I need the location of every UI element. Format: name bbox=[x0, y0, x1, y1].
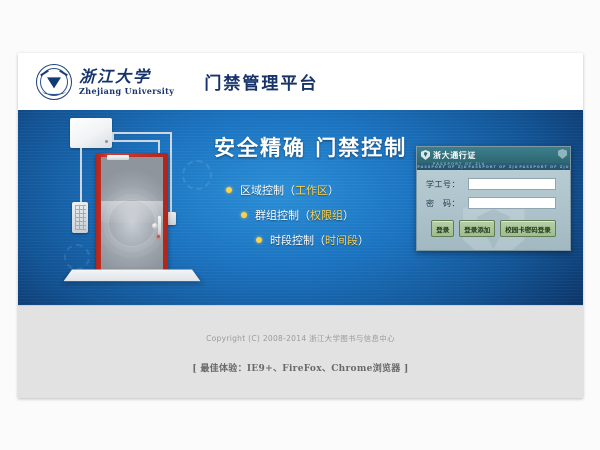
bullet-dot-icon bbox=[256, 237, 262, 243]
shield-icon bbox=[558, 149, 567, 159]
feature-highlight: 权限组 bbox=[310, 207, 343, 223]
wire bbox=[112, 132, 172, 134]
seal-arc bbox=[42, 87, 66, 95]
login-button[interactable]: 登录 bbox=[431, 220, 454, 237]
door-panel bbox=[101, 157, 163, 275]
bullet-dot-icon bbox=[226, 187, 232, 193]
login-button-row: 登录 登录添加 校园卡密码登录 bbox=[417, 220, 570, 237]
university-name-en: Zhejiang University bbox=[79, 87, 174, 95]
door-access-control-illustration bbox=[46, 116, 216, 301]
banner-text-block: 安全精确 门禁控制 区域控制（ 工作区 ） 群组控制（ 权限组 ） 时段控制（ bbox=[214, 132, 424, 257]
login-panel-title: 浙大通行证 bbox=[433, 151, 476, 160]
zju-seal-icon bbox=[36, 64, 72, 100]
wire bbox=[112, 140, 160, 142]
login-add-button[interactable]: 登录添加 bbox=[459, 220, 495, 237]
band-text: PASSPORT OF ZJU bbox=[519, 165, 569, 169]
gear-decoration-icon bbox=[182, 160, 212, 190]
university-name-cn: 浙江大学 bbox=[79, 69, 174, 85]
username-label: 学工号： bbox=[426, 179, 468, 190]
hero-banner: 安全精确 门禁控制 区域控制（ 工作区 ） 群组控制（ 权限组 ） 时段控制（ bbox=[18, 110, 583, 305]
browser-support-text: [ 最佳体验：IE9+、FireFox、Chrome浏览器 ] bbox=[192, 361, 408, 374]
feature-item-time-control: 时段控制（ 时间段 ） bbox=[256, 232, 424, 248]
feature-list: 区域控制（ 工作区 ） 群组控制（ 权限组 ） 时段控制（ 时间段 ） bbox=[214, 182, 424, 248]
door-closer-icon bbox=[107, 155, 129, 160]
site-page: 浙江大学 Zhejiang University 门禁管理平台 bbox=[18, 53, 583, 398]
banner-headline: 安全精确 门禁控制 bbox=[214, 132, 424, 162]
password-input[interactable] bbox=[468, 197, 556, 209]
campus-card-login-button[interactable]: 校园卡密码登录 bbox=[500, 220, 556, 237]
feature-label: 区域控制（ bbox=[240, 182, 295, 198]
login-panel-subtitle: PASSPORT OF ZJU bbox=[433, 163, 486, 167]
password-label: 密 码： bbox=[426, 198, 468, 209]
university-name-block: 浙江大学 Zhejiang University bbox=[79, 69, 174, 95]
wire bbox=[80, 148, 82, 203]
bullet-dot-icon bbox=[241, 212, 247, 218]
page-title: 门禁管理平台 bbox=[204, 69, 318, 94]
feature-highlight: 工作区 bbox=[295, 182, 328, 198]
door-status-led bbox=[157, 235, 160, 238]
copyright-text: Copyright (C) 2008-2014 浙江大学图书与信息中心 bbox=[206, 333, 395, 344]
shield-icon bbox=[421, 150, 430, 160]
feature-tail: ） bbox=[328, 182, 339, 198]
wire bbox=[170, 132, 172, 214]
door-frame bbox=[96, 153, 168, 275]
controller-box-icon bbox=[70, 118, 112, 148]
password-row: 密 码： bbox=[417, 197, 570, 209]
login-panel-header: 浙大通行证 PASSPORT OF ZJU bbox=[417, 147, 570, 163]
feature-highlight: 时间段 bbox=[325, 232, 358, 248]
card-reader-keypad-icon bbox=[72, 202, 88, 233]
login-form: 学工号： 密 码： 登录 登录添加 校园卡密码登录 bbox=[417, 170, 570, 251]
username-row: 学工号： bbox=[417, 178, 570, 190]
username-input[interactable] bbox=[468, 178, 556, 190]
site-footer: Copyright (C) 2008-2014 浙江大学图书与信息中心 [ 最佳… bbox=[18, 305, 583, 398]
feature-label: 群组控制（ bbox=[255, 207, 310, 223]
seal-wing-right bbox=[59, 69, 68, 75]
site-header: 浙江大学 Zhejiang University 门禁管理平台 bbox=[18, 53, 583, 110]
feature-tail: ） bbox=[358, 232, 369, 248]
login-panel: 浙大通行证 PASSPORT OF ZJU PASSPORT OF ZJU PA… bbox=[416, 146, 571, 251]
feature-label: 时段控制（ bbox=[270, 232, 325, 248]
feature-tail: ） bbox=[343, 207, 354, 223]
feature-item-group-control: 群组控制（ 权限组 ） bbox=[241, 207, 424, 223]
keypad-keys bbox=[75, 205, 86, 230]
university-logo[interactable]: 浙江大学 Zhejiang University bbox=[36, 64, 174, 100]
seal-wing-left bbox=[40, 69, 49, 75]
feature-item-area-control: 区域控制（ 工作区 ） bbox=[226, 182, 424, 198]
floor-plate bbox=[64, 270, 201, 282]
door-ring bbox=[108, 199, 156, 247]
gear-decoration-icon bbox=[64, 244, 90, 270]
